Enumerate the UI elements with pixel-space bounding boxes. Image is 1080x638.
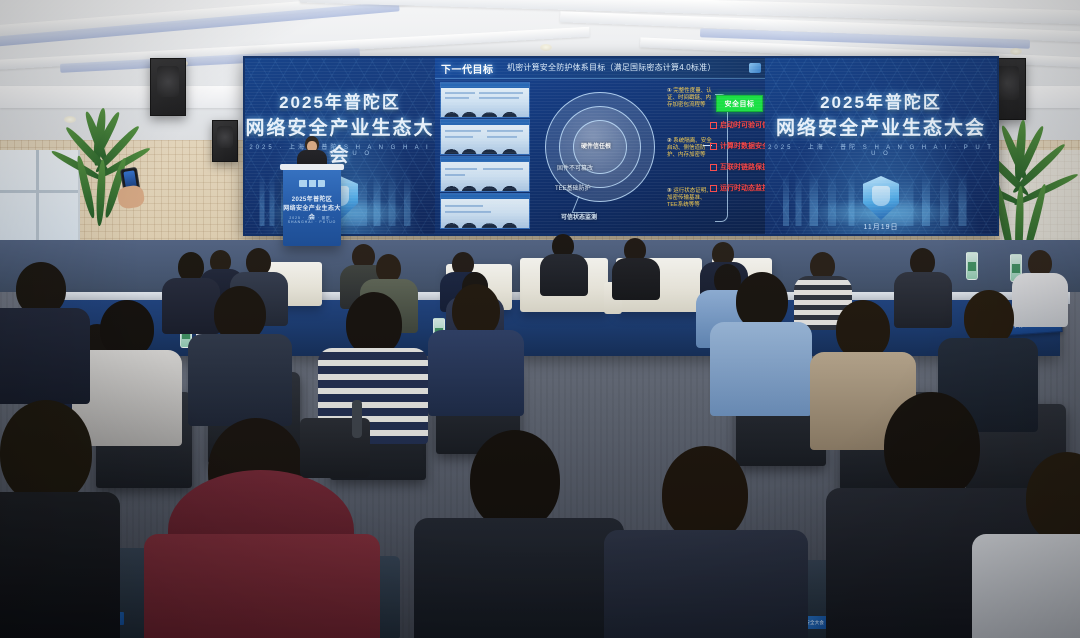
list-item: ② 系统隔离、安全启动、侧信道防护、内存加密等 (667, 138, 713, 159)
led-panel-right: 2025年普陀区 网络安全产业生态大会 2025 · 上海 · 普陀 S H A… (765, 58, 997, 234)
downlight (1010, 48, 1022, 55)
goal-badge-label: 安全目标 (725, 99, 755, 109)
goal-item-list: 启动时可验可信 计算时数据安全 互联时链路保护 运行时动态监控 (710, 120, 764, 204)
podium-logo-icon (299, 180, 325, 187)
list-item (440, 156, 530, 192)
led-video-wall: 2025年普陀区 网络安全产业生态大会 2025 · 上海 · 普陀 S H A… (243, 56, 999, 236)
ring-core-label: 硬件信任根 (581, 141, 611, 150)
list-item: 运行时动态监控 (710, 183, 764, 193)
list-item: 计算时数据安全 (710, 141, 764, 151)
podium-subtitle: 2025 · 上海 · 普陀 · SHANGHAI · PUTUO (283, 215, 341, 224)
right-kv-subtitle: 2025 · 上海 · 普陀 S H A N G H A I · P U T U… (765, 142, 997, 157)
checkbox-icon (710, 143, 717, 150)
wall-speaker-left-lower (212, 120, 238, 162)
water-bottle (966, 252, 978, 280)
goal-item-label: 计算时数据安全 (720, 141, 765, 151)
checkbox-icon (710, 185, 717, 192)
bullet-number: ② (667, 138, 672, 144)
list-item (440, 82, 530, 118)
led-panel-center-slide: 下一代目标 机密计算安全防护体系目标（满足国际密态计算4.0标准） (435, 58, 765, 234)
list-item (440, 193, 530, 229)
left-kv-title-line2: 网络安全产业生态大会 (245, 113, 435, 167)
conference-photo: 2025年普陀区 网络安全产业生态大会 2025 · 上海 · 普陀 S H A… (0, 0, 1080, 638)
slide-corner-logo-icon (749, 63, 761, 73)
list-item: ① 完整性度量、认证、时间戳链、内存加密包流程等 (667, 88, 713, 109)
goal-item-label: 运行时动态监控 (720, 183, 765, 193)
bullet-text: 系统隔离、安全启动、侧信道防护、内存加密等 (667, 138, 712, 158)
bullet-number: ③ (667, 188, 672, 194)
right-kv-title-line1: 2025年普陀区 (765, 88, 997, 113)
leader-line (572, 196, 602, 213)
list-item: 启动时可验可信 (710, 120, 764, 130)
event-date: 11月19日 (765, 222, 997, 232)
list-item: ③ 运行状态证明、加密传输基准、TEE系统等等 (667, 188, 713, 209)
potted-plant-left (42, 108, 172, 228)
podium: 2025年普陀区 网络安全产业生态大会 2025 · 上海 · 普陀 · SHA… (283, 168, 341, 246)
ring-bottom-label: 可信状态监测 (561, 212, 597, 221)
slide-headline: 下一代目标 (441, 61, 494, 76)
ring-outer-label: TEE基础防护 (555, 183, 591, 192)
goal-item-label: 互联时链路保护 (720, 162, 765, 172)
downlight (540, 44, 552, 51)
left-kv-subtitle: 2025 · 上海 · 普陀 S H A N G H A I · P U T U… (245, 142, 435, 157)
slide-subheadline: 机密计算安全防护体系目标（满足国际密态计算4.0标准） (507, 62, 716, 73)
list-item: 互联时链路保护 (710, 162, 764, 172)
slide-thumbnail-strip (440, 82, 528, 228)
podium-top-surface (280, 164, 344, 170)
bullet-number: ① (667, 88, 672, 94)
checkbox-icon (710, 164, 717, 171)
podium-title-line1: 2025年普陀区 (283, 194, 341, 203)
checkbox-icon (710, 122, 717, 129)
bag-handle (352, 400, 362, 438)
ring-middle-label: 固件不可篡改 (557, 163, 593, 172)
right-kv-title-line2: 网络安全产业生态大会 (765, 113, 997, 140)
bullet-text: 完整性度量、认证、时间戳链、内存加密包流程等 (667, 88, 712, 108)
goal-item-label: 启动时可验可信 (720, 120, 765, 130)
goal-badge: 安全目标 (716, 95, 763, 112)
bullet-text: 运行状态证明、加密传输基准、TEE系统等等 (667, 188, 712, 208)
list-item (440, 119, 530, 155)
concentric-rings-diagram: 硬件信任根 固件不可篡改 TEE基础防护 可信状态监测 (535, 84, 663, 224)
left-kv-title-line1: 2025年普陀区 (245, 88, 435, 113)
